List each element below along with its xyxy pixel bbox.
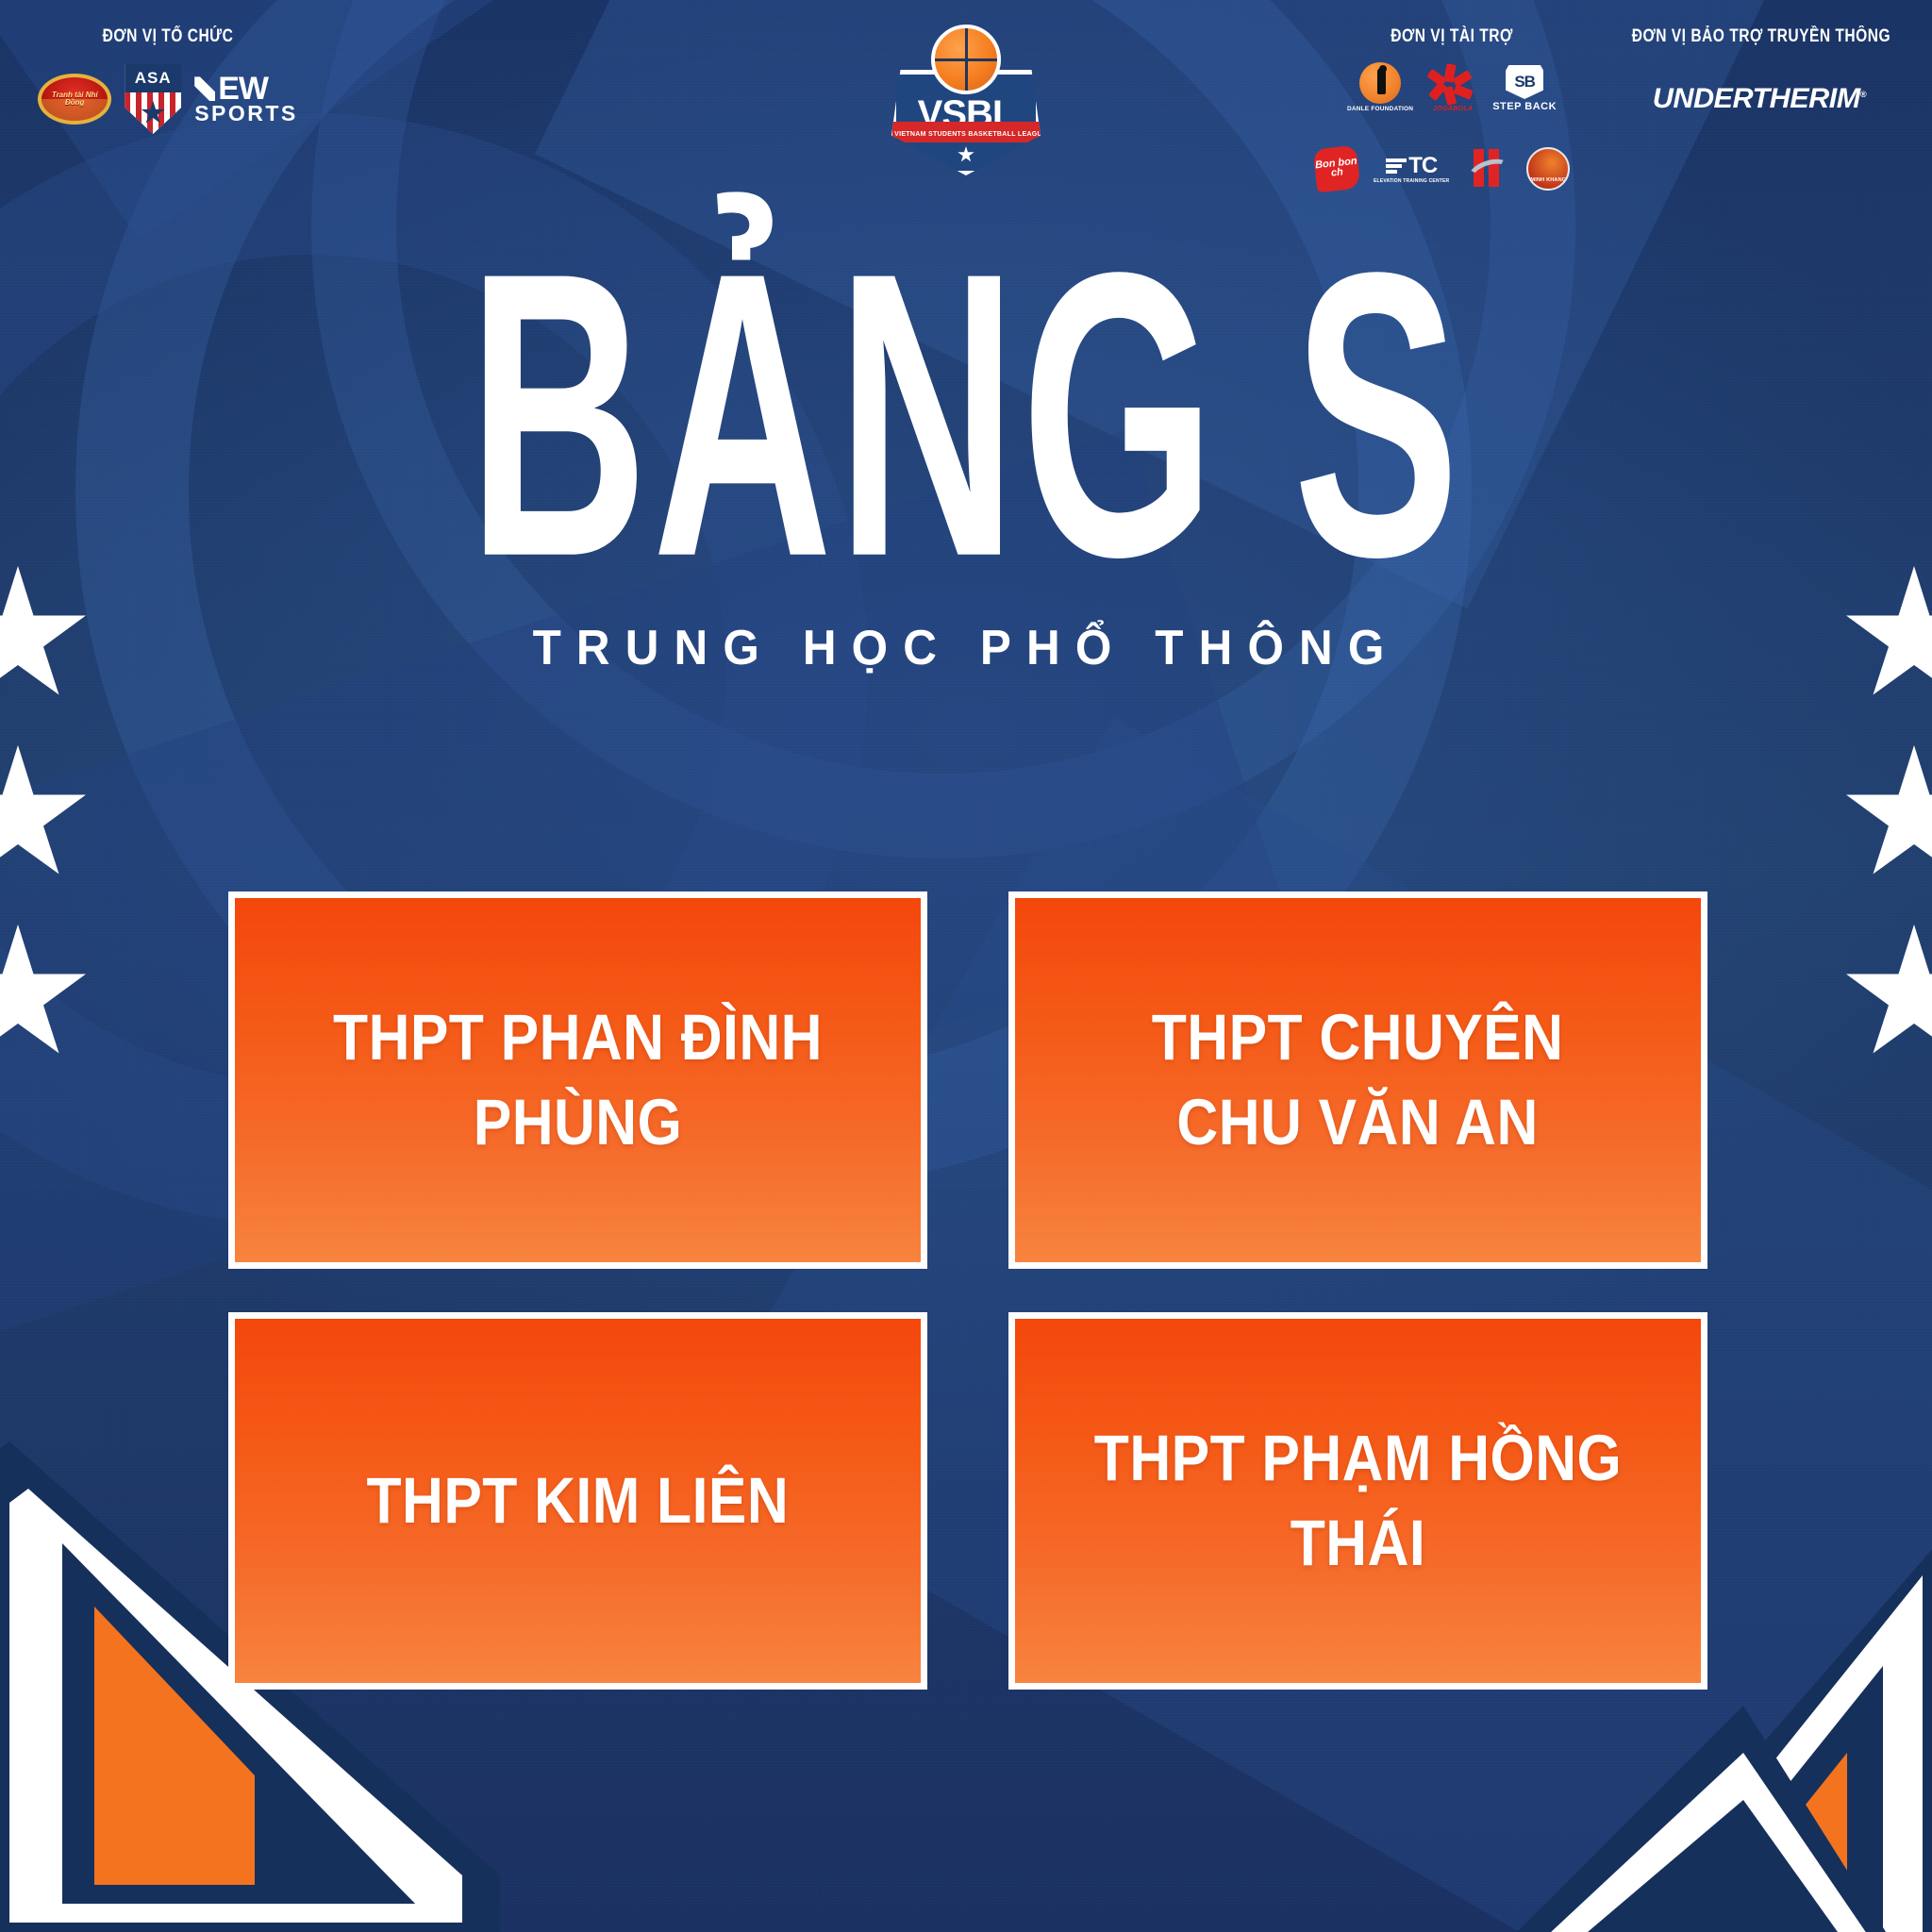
jogabola-logo[interactable]: JOGABOLA (1430, 64, 1475, 112)
page-subtitle: TRUNG HỌC PHỔ THÔNG (48, 620, 1884, 676)
step-back-logo[interactable]: SB STEP BACK (1492, 65, 1557, 112)
vsbl-ribbon: VIETNAM STUDENTS BASKETBALL LEAGUE (892, 122, 1049, 142)
organizer-label: ĐƠN VỊ TỔ CHỨC (52, 26, 284, 47)
title-block: BẢNG S TRUNG HỌC PHỔ THÔNG (0, 241, 1932, 676)
step-back-caption: STEP BACK (1492, 101, 1557, 112)
asa-star-icon (141, 101, 165, 125)
media-partner-logo-row: UNDERTHERIM® (1604, 83, 1915, 115)
new-sports-mark-icon (194, 76, 215, 101)
team-card[interactable]: THPT CHUYÊN CHU VĂN AN (1008, 891, 1707, 1269)
team-card[interactable]: THPT KIM LIÊN (228, 1312, 927, 1690)
sponsor-logo-row-2: Bon bon ch TC ELEVATION TRAINING CENTER … (1315, 147, 1655, 191)
vsbl-logo[interactable]: VSBL VIETNAM STUDENTS BASKETBALL LEAGUE (885, 25, 1047, 187)
danle-foundation-logo[interactable]: DANLE FOUNDATION (1347, 62, 1413, 112)
undertherim-registered-icon: ® (1860, 90, 1866, 99)
page-title: BẢNG S (193, 241, 1739, 589)
undertherim-text: UNDERTHERIM (1653, 83, 1860, 114)
organizer-block: ĐƠN VỊ TỔ CHỨC Tranh tài Nhí Đồng ASA EW… (26, 26, 309, 134)
media-partner-label: ĐƠN VỊ BẢO TRỢ TRUYỀN THÔNG (1632, 26, 1888, 47)
step-back-shield-icon: SB (1506, 65, 1543, 99)
basketball-icon (931, 25, 1001, 94)
etc-logo[interactable]: TC ELEVATION TRAINING CENTER (1374, 155, 1449, 184)
poster-canvas: ĐƠN VỊ TỔ CHỨC Tranh tài Nhí Đồng ASA EW… (0, 0, 1932, 1932)
team-name: THPT CHUYÊN CHU VĂN AN (1152, 995, 1564, 1164)
danle-basketball-icon (1359, 62, 1401, 104)
team-card[interactable]: THPT PHẠM HỒNG THÁI (1008, 1312, 1707, 1690)
etc-bars-icon (1386, 158, 1407, 174)
sponsor-block: ĐƠN VỊ TÀI TRỢ DANLE FOUNDATION JOGABOLA… (1324, 26, 1579, 112)
bon-bon-ch-logo[interactable]: Bon bon ch (1313, 145, 1361, 193)
minh-khang-logo[interactable]: MINH KHANG (1526, 147, 1570, 191)
etc-text: TC (1408, 155, 1437, 177)
team-card[interactable]: THPT PHAN ĐÌNH PHÙNG (228, 891, 927, 1269)
new-sports-line1: EW (218, 75, 268, 104)
asa-logo[interactable]: ASA (125, 64, 181, 134)
tranh-tai-nhi-dong-logo[interactable]: Tranh tài Nhí Đồng (38, 74, 111, 125)
team-name: THPT PHẠM HỒNG THÁI (1078, 1416, 1639, 1585)
vsbl-star-icon (958, 146, 974, 163)
asa-banner: ASA (125, 64, 181, 92)
vsbl-tagline: VIETNAM STUDENTS BASKETBALL LEAGUE (894, 131, 1047, 138)
minh-khang-caption: MINH KHANG (1531, 177, 1567, 183)
tranh-tai-nhi-dong-text: Tranh tài Nhí Đồng (42, 92, 108, 107)
bon-bon-ch-text: Bon bon ch (1314, 158, 1359, 180)
asa-stripes (125, 92, 181, 134)
organizer-logo-row: Tranh tài Nhí Đồng ASA EW SPORTS (26, 64, 309, 134)
jogabola-caption: JOGABOLA (1433, 106, 1473, 112)
media-partner-block: ĐƠN VỊ BẢO TRỢ TRUYỀN THÔNG UNDERTHERIM® (1604, 26, 1915, 115)
new-sports-logo[interactable]: EW SPORTS (194, 75, 298, 124)
step-back-mark: SB (1514, 73, 1535, 92)
danle-caption: DANLE FOUNDATION (1347, 106, 1413, 112)
sponsor-logo-row-1: DANLE FOUNDATION JOGABOLA SB STEP BACK (1324, 62, 1579, 112)
team-name: THPT PHAN ĐÌNH PHÙNG (298, 995, 858, 1164)
team-name: THPT KIM LIÊN (367, 1458, 790, 1543)
sponsor-label: ĐƠN VỊ TÀI TRỢ (1347, 26, 1556, 47)
new-sports-line2: SPORTS (194, 104, 298, 124)
hanoi-academy-logo[interactable] (1464, 147, 1511, 191)
asa-text: ASA (135, 69, 172, 88)
team-grid: THPT PHAN ĐÌNH PHÙNG THPT CHUYÊN CHU VĂN… (228, 891, 1707, 1690)
undertherim-logo[interactable]: UNDERTHERIM® (1653, 83, 1866, 115)
etc-caption: ELEVATION TRAINING CENTER (1374, 178, 1449, 184)
jogabola-burst-icon (1430, 64, 1475, 106)
